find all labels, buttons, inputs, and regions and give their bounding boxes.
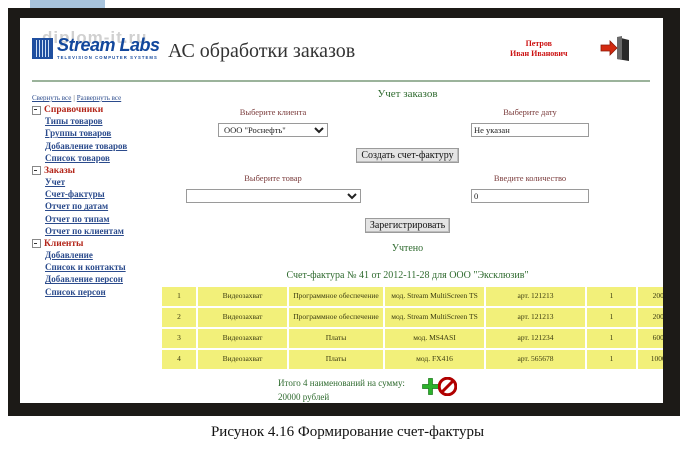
cell-qty: 1: [587, 287, 636, 306]
sidebar-group-header[interactable]: Клиенты: [32, 239, 150, 249]
tree-tools: Свернуть все|Развернуть все: [32, 94, 150, 102]
cell-model: мод. MS4ASI: [385, 329, 484, 348]
sidebar-item-otchet-po-tipam[interactable]: Отчет по типам: [45, 213, 150, 225]
quantity-label: Введите количество: [430, 173, 630, 183]
main-content: Учет заказов Выберите клиента ООО "Росне…: [160, 88, 655, 403]
cell-type: Видеозахват: [198, 308, 287, 327]
exit-door-icon[interactable]: [600, 36, 630, 62]
sidebar-item-dobavlenie-tovarov[interactable]: Добавление товаров: [45, 140, 150, 152]
cell-group: Платы: [289, 329, 383, 348]
status-text: Учтено: [160, 243, 655, 254]
cell-model: мод. Stream MultiScreen TS: [385, 308, 484, 327]
page-title: АС обработки заказов: [168, 40, 355, 63]
sidebar-group-header[interactable]: Заказы: [32, 166, 150, 176]
cell-model: мод. FX416: [385, 350, 484, 369]
table-row[interactable]: 4 Видеозахват Платы мод. FX416 арт. 5656…: [162, 350, 663, 369]
collapse-toggle-icon[interactable]: [32, 166, 41, 175]
totals-line-2: 20000 рублей: [278, 391, 405, 403]
logo-grid-icon: [32, 38, 53, 59]
cell-qty: 1: [587, 308, 636, 327]
green-plus-icon[interactable]: [422, 378, 439, 395]
cell-article: арт. 121234: [486, 329, 585, 348]
cell-article: арт. 121213: [486, 287, 585, 306]
sidebar-nav: Свернуть все|Развернуть все Справочники …: [32, 94, 150, 299]
sidebar-group-klienty: Клиенты Добавление Список и контакты Доб…: [32, 239, 150, 299]
product-select[interactable]: [186, 189, 361, 203]
quantity-field: Введите количество: [430, 173, 630, 204]
cell-price: 10000 руб.: [638, 350, 663, 369]
cell-qty: 1: [587, 350, 636, 369]
date-input[interactable]: [471, 123, 589, 137]
sidebar-group-zakazy: Заказы Учет Счет-фактуры Отчет по датам …: [32, 166, 150, 238]
app-header: Stream Labs TELEVISION COMPUTER SYSTEMS …: [20, 18, 663, 74]
table-row[interactable]: 2 Видеозахват Программное обеспечение мо…: [162, 308, 663, 327]
cell-price: 2000 руб.: [638, 287, 663, 306]
sidebar-item-schet-faktury[interactable]: Счет-фактуры: [45, 188, 150, 200]
product-field: Выберите товар: [178, 173, 368, 204]
expand-all-link[interactable]: Развернуть все: [77, 94, 121, 102]
create-invoice-row: Создать счет-фактуру: [160, 145, 655, 163]
register-row: Зарегистрировать: [160, 215, 655, 233]
register-button[interactable]: Зарегистрировать: [365, 218, 450, 233]
sidebar-group-label: Справочники: [44, 105, 103, 115]
sidebar-item-dobavlenie[interactable]: Добавление: [45, 249, 150, 261]
cell-group: Программное обеспечение: [289, 308, 383, 327]
sidebar-item-spisok-i-kontakty[interactable]: Список и контакты: [45, 261, 150, 273]
logo-name: Stream Labs: [57, 36, 160, 54]
cell-type: Видеозахват: [198, 350, 287, 369]
cell-article: арт. 121213: [486, 308, 585, 327]
user-lastname: Петров: [510, 39, 568, 49]
invoice-totals: Итого 4 наименований на сумму: 20000 руб…: [160, 377, 655, 403]
logo-tagline: TELEVISION COMPUTER SYSTEMS: [57, 56, 160, 60]
current-user: Петров Иван Иванович: [510, 39, 568, 59]
invoice-table: 1 Видеозахват Программное обеспечение мо…: [160, 285, 663, 371]
tree-tools-separator: |: [73, 94, 74, 102]
section-title: Учет заказов: [160, 88, 655, 100]
client-label: Выберите клиента: [198, 107, 348, 117]
cell-num: 2: [162, 308, 196, 327]
cell-group: Платы: [289, 350, 383, 369]
cell-article: арт. 565678: [486, 350, 585, 369]
sidebar-item-spisok-tovarov[interactable]: Список товаров: [45, 152, 150, 164]
sidebar-group-spravochniki: Справочники Типы товаров Группы товаров …: [32, 105, 150, 165]
table-row[interactable]: 1 Видеозахват Программное обеспечение мо…: [162, 287, 663, 306]
table-row[interactable]: 3 Видеозахват Платы мод. MS4ASI арт. 121…: [162, 329, 663, 348]
totals-text: Итого 4 наименований на сумму: 20000 руб…: [278, 377, 405, 403]
sidebar-item-tipy-tovarov[interactable]: Типы товаров: [45, 115, 150, 127]
quantity-input[interactable]: [471, 189, 589, 203]
collapse-all-link[interactable]: Свернуть все: [32, 94, 71, 102]
invoice-title: Счет-фактура № 41 от 2012-11-28 для ООО …: [160, 270, 655, 281]
brand-logo: Stream Labs TELEVISION COMPUTER SYSTEMS: [32, 36, 160, 60]
collapse-toggle-icon[interactable]: [32, 239, 41, 248]
client-field: Выберите клиента ООО "Роснефть": [198, 107, 348, 138]
sidebar-group-label: Клиенты: [44, 239, 83, 249]
cell-price: 6000 руб.: [638, 329, 663, 348]
sidebar-item-otchet-po-klientam[interactable]: Отчет по клиентам: [45, 225, 150, 237]
collapse-toggle-icon[interactable]: [32, 106, 41, 115]
app-page: diplom-it.ru Stream Labs TELEVISION COMP…: [20, 18, 663, 403]
screenshot-frame: diplom-it.ru Stream Labs TELEVISION COMP…: [8, 8, 680, 416]
cell-num: 4: [162, 350, 196, 369]
invoice-table-wrap: 1 Видеозахват Программное обеспечение мо…: [160, 285, 655, 371]
cell-num: 1: [162, 287, 196, 306]
cell-group: Программное обеспечение: [289, 287, 383, 306]
cell-price: 2000 руб.: [638, 308, 663, 327]
cell-type: Видеозахват: [198, 287, 287, 306]
sidebar-item-otchet-po-datam[interactable]: Отчет по датам: [45, 200, 150, 212]
sidebar-group-label: Заказы: [44, 166, 75, 176]
form-row-client-date: Выберите клиента ООО "Роснефть" Выберите…: [160, 107, 655, 141]
client-select[interactable]: ООО "Роснефть": [218, 123, 328, 137]
window-tab-strip: [30, 0, 105, 8]
figure-caption: Рисунок 4.16 Формирование счет-фактуры: [0, 424, 695, 441]
totals-line-1: Итого 4 наименований на сумму:: [278, 377, 405, 391]
user-firstname: Иван Иванович: [510, 49, 568, 59]
date-label: Выберите дату: [430, 107, 630, 117]
sidebar-item-spisok-person[interactable]: Список персон: [45, 286, 150, 298]
product-label: Выберите товар: [178, 173, 368, 183]
create-invoice-button[interactable]: Создать счет-фактуру: [356, 148, 458, 163]
sidebar-item-uchet[interactable]: Учет: [45, 176, 150, 188]
cell-qty: 1: [587, 329, 636, 348]
red-prohibition-icon[interactable]: [438, 377, 457, 396]
date-field: Выберите дату: [430, 107, 630, 138]
sidebar-item-dobavlenie-person[interactable]: Добавление персон: [45, 273, 150, 285]
form-row-product-qty: Выберите товар Введите количество: [160, 173, 655, 207]
sidebar-group-header[interactable]: Справочники: [32, 105, 150, 115]
cell-model: мод. Stream MultiScreen TS: [385, 287, 484, 306]
cell-num: 3: [162, 329, 196, 348]
cell-type: Видеозахват: [198, 329, 287, 348]
header-divider: [32, 80, 650, 82]
sidebar-item-gruppy-tovarov[interactable]: Группы товаров: [45, 127, 150, 139]
